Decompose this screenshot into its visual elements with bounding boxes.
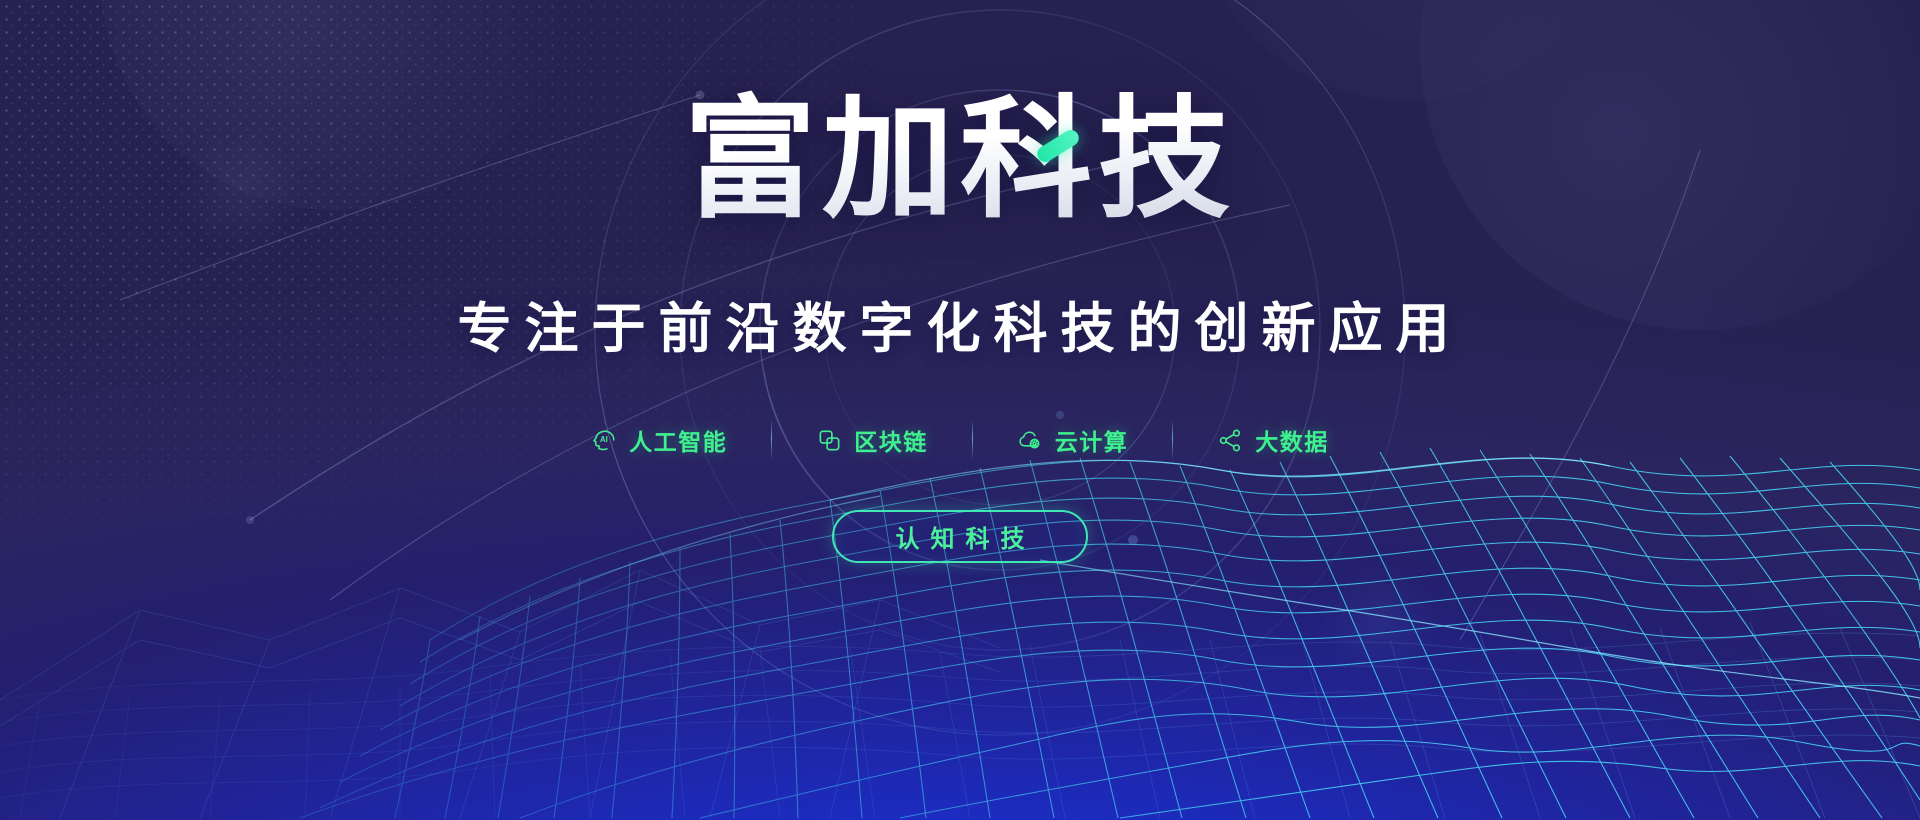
cta-button[interactable]: 认知科技 (832, 510, 1088, 563)
share-nodes-icon (1217, 427, 1244, 454)
feature-tag-label: 大数据 (1255, 423, 1329, 457)
feature-tag-label: 区块链 (854, 423, 928, 457)
feature-tag-bigdata[interactable]: 大数据 (1173, 423, 1373, 457)
cta-row: 认知科技 (0, 510, 1920, 563)
svg-text:AI: AI (600, 434, 608, 443)
feature-tag-label: 人工智能 (629, 423, 727, 457)
hero-content: 富加科技 专注于前沿数字化科技的创新应用 AI 人工智能 (0, 0, 1920, 820)
feature-tag-list: AI 人工智能 区块链 (0, 420, 1920, 460)
ai-head-icon: AI (591, 427, 618, 454)
feature-tag-label: 云计算 (1055, 423, 1129, 457)
feature-tag-ai[interactable]: AI 人工智能 (547, 423, 771, 457)
cloud-gear-icon (1017, 427, 1044, 454)
page-title: 富加科技 (0, 86, 1920, 234)
feature-tag-blockchain[interactable]: 区块链 (772, 423, 972, 457)
hero-banner: 富加科技 专注于前沿数字化科技的创新应用 AI 人工智能 (0, 0, 1920, 820)
feature-tag-cloud[interactable]: 云计算 (973, 423, 1173, 457)
blockchain-blocks-icon (816, 427, 843, 454)
page-subtitle: 专注于前沿数字化科技的创新应用 (0, 284, 1920, 363)
